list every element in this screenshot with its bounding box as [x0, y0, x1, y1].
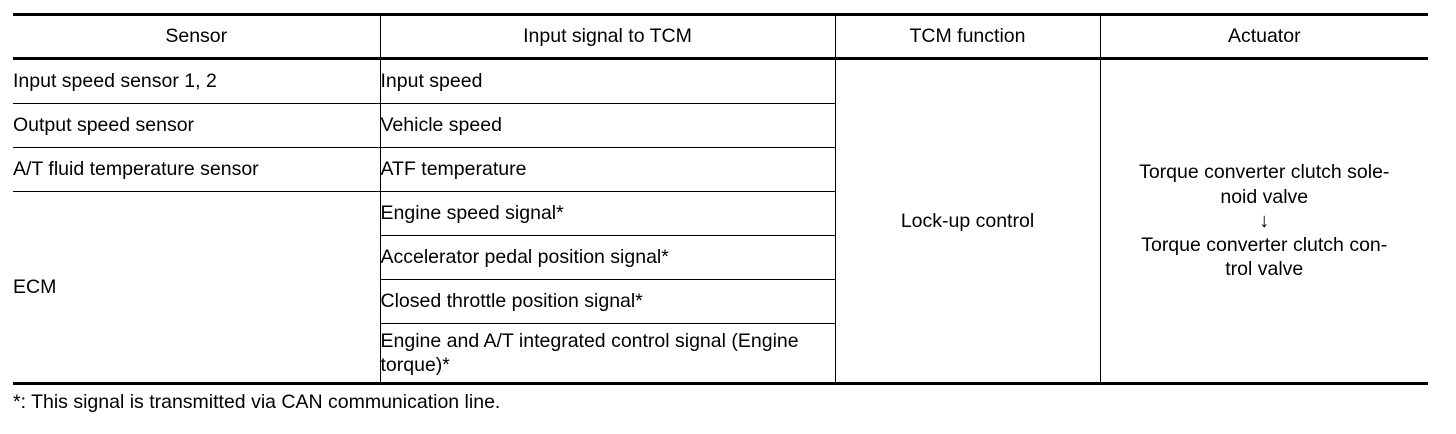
down-arrow-icon: ↓: [1101, 210, 1429, 233]
column-header-input-signal: Input signal to TCM: [380, 15, 835, 59]
column-header-sensor: Sensor: [13, 15, 380, 59]
cell-actuator: Torque converter clutch sole- noid valve…: [1100, 59, 1428, 384]
cell-sensor: Output speed sensor: [13, 104, 380, 148]
cell-input-signal: Input speed: [380, 59, 835, 104]
sensor-function-actuator-table: Sensor Input signal to TCM TCM function …: [13, 13, 1428, 385]
header-row: Sensor Input signal to TCM TCM function …: [13, 15, 1428, 59]
actuator-line-1: Torque converter clutch sole-: [1101, 160, 1429, 185]
actuator-line-2: noid valve: [1101, 185, 1429, 210]
cell-input-signal: Vehicle speed: [380, 104, 835, 148]
cell-input-signal: Accelerator pedal position signal*: [380, 236, 835, 280]
actuator-line-4: trol valve: [1101, 257, 1429, 282]
column-header-actuator: Actuator: [1100, 15, 1428, 59]
spec-table-figure: Sensor Input signal to TCM TCM function …: [0, 0, 1456, 434]
actuator-line-3: Torque converter clutch con-: [1101, 233, 1429, 258]
footnote-can-communication: *: This signal is transmitted via CAN co…: [13, 390, 500, 414]
column-header-tcm-function: TCM function: [835, 15, 1100, 59]
cell-input-signal: ATF temperature: [380, 148, 835, 192]
cell-sensor: Input speed sensor 1, 2: [13, 59, 380, 104]
cell-sensor: A/T fluid temperature sensor: [13, 148, 380, 192]
table-body: Input speed sensor 1, 2 Input speed Lock…: [13, 59, 1428, 384]
cell-sensor-ecm: ECM: [13, 192, 380, 384]
cell-input-signal: Engine speed signal*: [380, 192, 835, 236]
cell-input-signal: Closed throttle position signal*: [380, 280, 835, 324]
cell-tcm-function: Lock-up control: [835, 59, 1100, 384]
table-row: Input speed sensor 1, 2 Input speed Lock…: [13, 59, 1428, 104]
cell-input-signal: Engine and A/T integrated control signal…: [380, 324, 835, 384]
table-header: Sensor Input signal to TCM TCM function …: [13, 15, 1428, 59]
